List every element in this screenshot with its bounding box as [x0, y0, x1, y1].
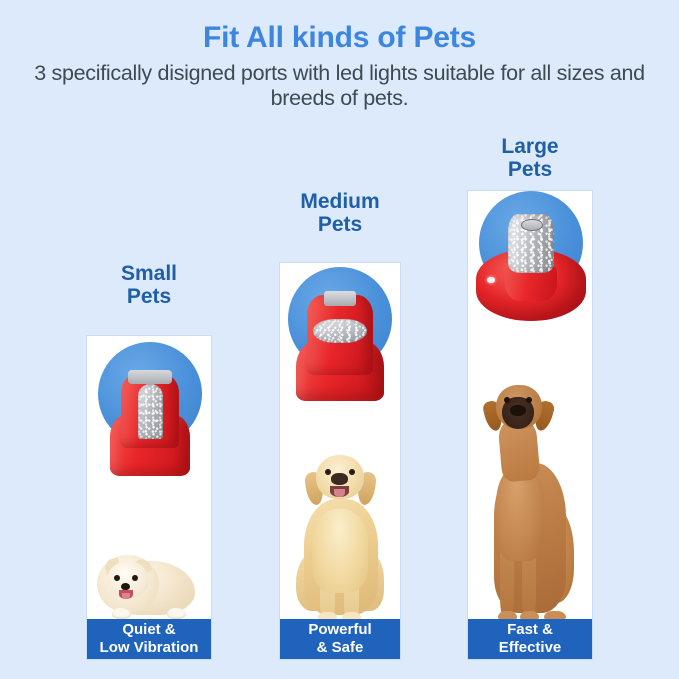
dog-nose	[121, 583, 130, 590]
banner-large: Fast & Effective	[468, 619, 592, 659]
dog-eye-left	[325, 469, 331, 475]
pet-photo-large	[468, 331, 592, 621]
column-label-large: Large Pets	[467, 135, 593, 181]
dog-tongue	[334, 489, 345, 497]
card-large[interactable]: Fast & Effective	[467, 190, 593, 660]
dog-chest	[312, 509, 368, 593]
column-small-pets: Small Pets	[86, 262, 212, 660]
dog-paw-left	[112, 608, 131, 619]
port-area-medium	[280, 263, 400, 423]
pet-photo-small	[87, 501, 211, 621]
banner-medium: Powerful & Safe	[280, 619, 400, 659]
dog-nose	[331, 473, 348, 485]
pet-photo-medium	[280, 423, 400, 621]
port-area-small	[87, 336, 211, 501]
header: Fit All kinds of Pets 3 specifically dis…	[0, 0, 679, 111]
page-subtitle: 3 specifically disigned ports with led l…	[0, 55, 679, 111]
grinding-bit	[138, 384, 163, 439]
column-label-medium: Medium Pets	[279, 190, 401, 236]
dog-nose	[510, 405, 526, 416]
grinding-bit	[313, 319, 367, 343]
grinding-bit-cap	[521, 219, 544, 231]
column-large-pets: Large Pets	[467, 135, 593, 660]
large-grinding-port-icon	[474, 199, 588, 323]
dog-eye-right	[132, 575, 138, 582]
dog-eye-right	[349, 469, 355, 475]
port-slot	[324, 291, 356, 307]
port-area-large	[468, 191, 592, 331]
dog-paw-right	[167, 608, 186, 619]
medium-grinding-port-icon	[290, 281, 390, 401]
pomeranian-illustration	[95, 543, 203, 621]
ridgeback-illustration	[474, 353, 586, 621]
dog-eye-left	[504, 397, 510, 403]
card-small[interactable]: Quiet & Low Vibration	[86, 335, 212, 660]
dog-eye-right	[526, 397, 532, 403]
page-title: Fit All kinds of Pets	[0, 0, 679, 55]
banner-small: Quiet & Low Vibration	[87, 619, 211, 659]
column-medium-pets: Medium Pets	[279, 190, 401, 660]
small-grinding-port-icon	[101, 358, 199, 476]
column-label-small: Small Pets	[86, 262, 212, 308]
dog-tongue	[122, 593, 130, 599]
dog-eye-left	[114, 575, 120, 582]
card-medium[interactable]: Powerful & Safe	[279, 262, 401, 660]
port-slot	[128, 370, 171, 384]
led-light	[487, 277, 495, 283]
golden-retriever-illustration	[288, 435, 392, 621]
